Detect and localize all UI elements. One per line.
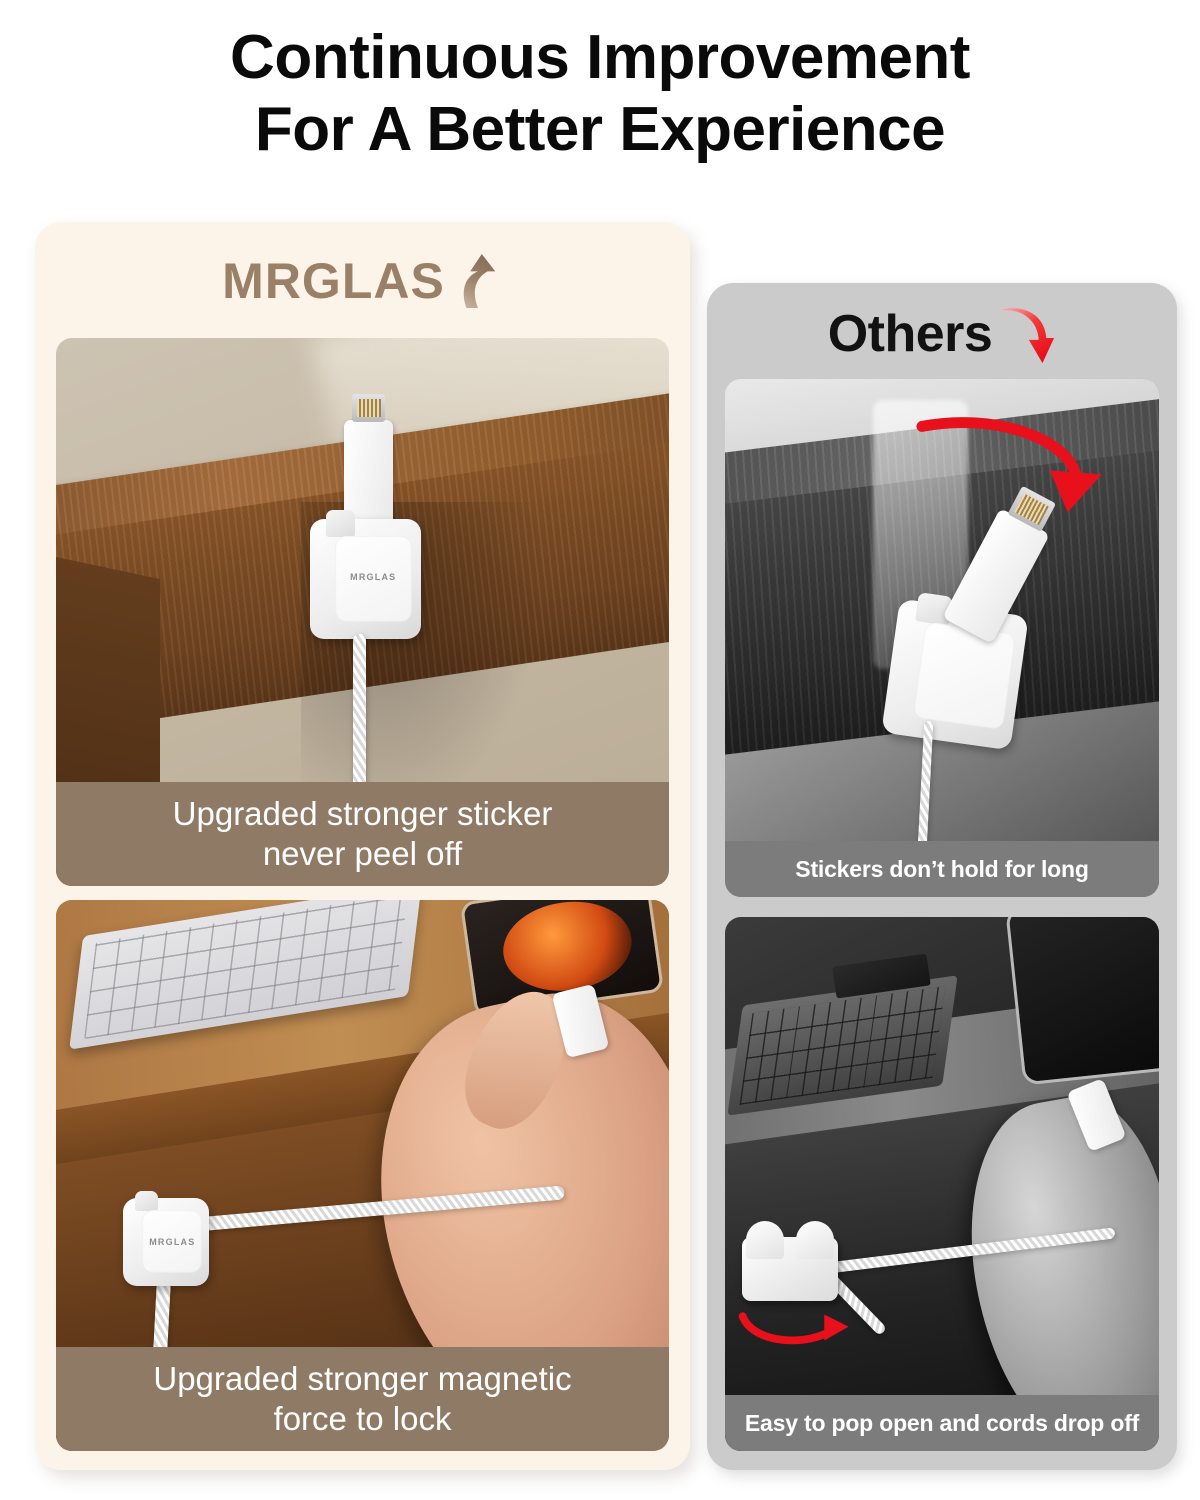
mrglas-clip: MRGLAS (310, 519, 420, 640)
others-caption-2: Easy to pop open and cords drop off (725, 1395, 1159, 1451)
others-label: Others (828, 304, 993, 364)
others-card-2: Easy to pop open and cords drop off (725, 917, 1159, 1451)
mrglas-caption-2-line-2: force to lock (274, 1399, 452, 1439)
red-curved-arrow-icon (734, 1291, 856, 1366)
clip-logo-text: MRGLAS (335, 572, 412, 582)
mrglas-caption-1-line-2: never peel off (263, 834, 462, 874)
others-caption-2-line-1: Easy to pop open and cords drop off (745, 1410, 1139, 1437)
others-panel: Others (707, 283, 1177, 1470)
mrglas-caption-2: Upgraded stronger magnetic force to lock (56, 1347, 669, 1451)
arrow-up-icon (449, 252, 503, 310)
mrglas-panel: MRGLAS (35, 222, 690, 1470)
others-caption-1: Stickers don’t hold for long (725, 841, 1159, 897)
red-curved-arrow-down-icon (916, 400, 1116, 535)
brand-name-label: MRGLAS (222, 252, 445, 310)
page-title: Continuous Improvement For A Better Expe… (0, 22, 1200, 166)
mrglas-caption-2-line-1: Upgraded stronger magnetic (153, 1359, 571, 1399)
clip-logo-text: MRGLAS (142, 1237, 202, 1247)
mrglas-card-2: MRGLAS Upgraded stronger magnetic force … (56, 900, 669, 1451)
title-line-2: For A Better Experience (0, 94, 1200, 166)
mrglas-caption-1-line-1: Upgraded stronger sticker (173, 794, 553, 834)
others-photo-1 (725, 379, 1159, 897)
mrglas-card-1: MRGLAS Upgraded stronger sticker never p… (56, 338, 669, 886)
others-photo-2 (725, 917, 1159, 1451)
arrow-down-icon (994, 305, 1056, 369)
title-line-1: Continuous Improvement (0, 22, 1200, 94)
mrglas-clip: MRGLAS (123, 1198, 209, 1286)
brand-heading: MRGLAS (35, 252, 690, 310)
others-heading: Others (707, 299, 1177, 369)
others-caption-1-line-1: Stickers don’t hold for long (795, 856, 1088, 883)
others-card-1: Stickers don’t hold for long (725, 379, 1159, 897)
mrglas-caption-1: Upgraded stronger sticker never peel off (56, 782, 669, 886)
